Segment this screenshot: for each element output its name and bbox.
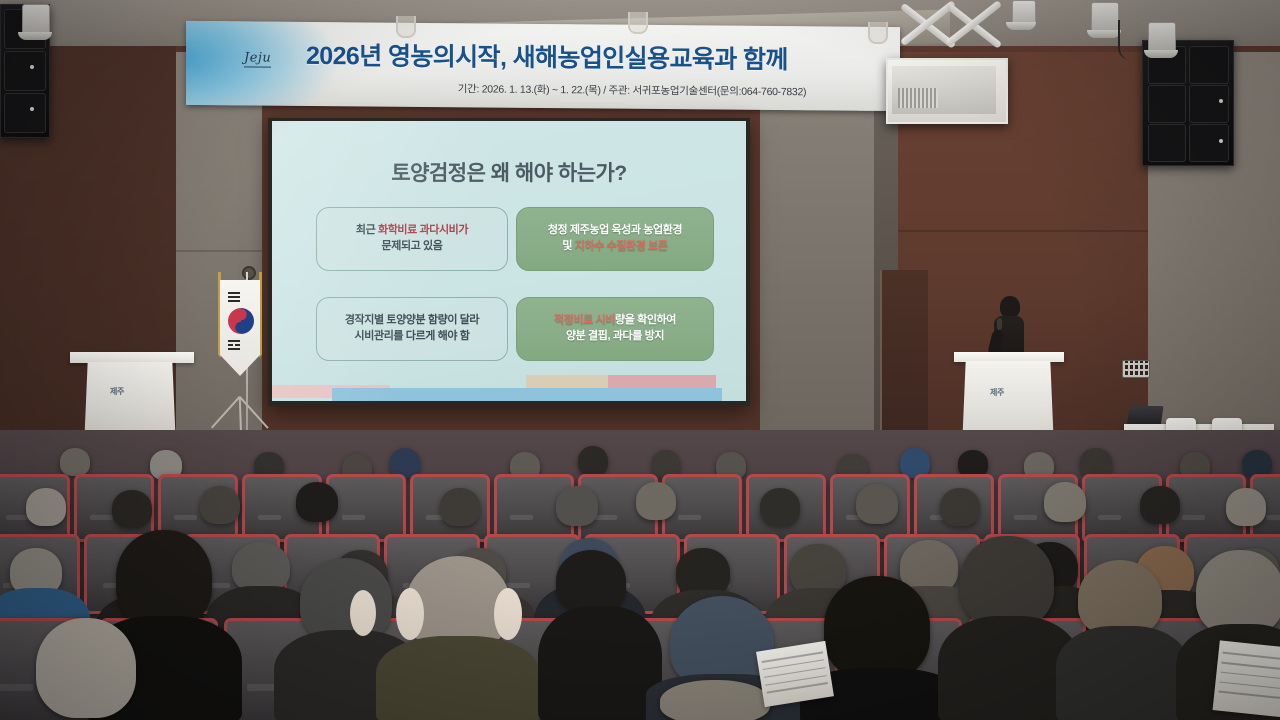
- wall-panel-grey-right: [760, 52, 878, 450]
- event-banner: Jeju 2026년 영농의시작, 새해농업인실용교육과 함께 기간: 2026…: [186, 21, 900, 111]
- speaker-cell: [1148, 124, 1186, 162]
- audience-shoulders: [1056, 626, 1190, 720]
- audience-head: [112, 490, 152, 528]
- banner-hook: [396, 16, 416, 38]
- scissor-arms: [900, 0, 1012, 64]
- audience-head-front: [36, 618, 136, 718]
- audience-head: [556, 486, 598, 526]
- speaker-cell: [1189, 85, 1229, 123]
- speaker-stack-right: [1142, 40, 1234, 166]
- speaker-led: [30, 107, 34, 111]
- audience-head: [1226, 488, 1266, 526]
- speaker-cell: [1189, 46, 1229, 84]
- banner-hook: [868, 22, 888, 44]
- seat: [326, 474, 406, 542]
- footer-segment: [608, 375, 716, 388]
- banner-subtitle: 기간: 2026. 1. 13.(화) ~ 1. 22.(목) / 주관: 서귀…: [382, 81, 882, 100]
- taeguk-symbol: [228, 308, 254, 334]
- cause-1-line1-highlight: 화학비료 과다시비가: [378, 224, 468, 236]
- projected-slide: 토양검정은 왜 해야 하는가? 최근 화학비료 과다시비가 문제되고 있음 청정…: [272, 121, 746, 401]
- banner-title: 2026년 영농의시작, 새해농업인실용교육과 함께: [306, 36, 900, 77]
- audience-head: [1044, 482, 1086, 522]
- knit-hat: [232, 542, 290, 592]
- auditorium-scene: Jeju 2026년 영농의시작, 새해농업인실용교육과 함께 기간: 2026…: [0, 0, 1280, 720]
- audience-head: [636, 482, 676, 520]
- slide-box-cause-1: 최근 화학비료 과다시비가 문제되고 있음: [316, 207, 508, 271]
- speaker-cell: [1148, 85, 1186, 123]
- audience-head-front: [824, 576, 930, 680]
- audience-head-front: [660, 680, 770, 720]
- footer-segment: [332, 388, 722, 401]
- slide-box-cause-2: 경작지별 토양양분 함량이 달라 시비관리를 다르게 해야 함: [316, 297, 508, 361]
- cause-1-line2: 문제되고 있음: [382, 240, 443, 252]
- projector-vent: [898, 88, 938, 108]
- spotlight-mount: [18, 32, 52, 40]
- audience-head: [1140, 486, 1180, 524]
- slide-box-effect-1: 청정 제주농업 육성과 농업환경 및 지하수 수질환경 보존: [516, 207, 714, 271]
- effect-1-line1: 청정 제주농업 육성과 농업환경: [548, 224, 682, 236]
- right-podium-top: [954, 352, 1064, 362]
- audience-head: [60, 448, 90, 476]
- banner-hook: [628, 12, 648, 34]
- speaker-cell: [4, 51, 46, 91]
- handout-document[interactable]: [1213, 640, 1280, 717]
- audience-head: [26, 488, 66, 526]
- cause-2-line2: 시비관리를 다르게 해야 함: [355, 330, 470, 342]
- speaker-led: [30, 65, 34, 69]
- audience-head: [296, 482, 338, 522]
- jeju-logo: Jeju: [244, 50, 271, 67]
- wall-keypad[interactable]: [1122, 360, 1150, 378]
- audience-head: [940, 488, 980, 526]
- wall-panel-grey-left: [176, 52, 262, 452]
- wall-seam: [176, 250, 262, 252]
- audience-head: [760, 488, 800, 526]
- slide-footer-decoration: [272, 375, 746, 401]
- cause-1-line1-prefix: 최근: [356, 224, 378, 236]
- hat-earflap: [350, 590, 376, 636]
- spotlight-mount: [1144, 50, 1178, 58]
- cable: [1118, 20, 1140, 60]
- spotlight-mount: [1087, 30, 1121, 38]
- right-podium-logo: 제주: [990, 387, 1004, 398]
- speaker-cell: [1189, 124, 1229, 162]
- audience-head: [200, 486, 240, 524]
- effect-1-line2-prefix: 및: [562, 240, 574, 252]
- wall-seam: [898, 230, 1148, 232]
- cause-2-line1: 경작지별 토양양분 함량이 달라: [345, 314, 479, 326]
- projector-scissor-lift: [900, 0, 1012, 64]
- audience-head: [578, 446, 608, 476]
- speaker-led: [1219, 139, 1223, 143]
- hat-earflap: [396, 588, 424, 640]
- side-door[interactable]: [880, 270, 928, 452]
- cap: [556, 550, 626, 612]
- speaker-cell: [4, 93, 46, 133]
- handout-document[interactable]: [756, 641, 834, 707]
- audience-head: [440, 488, 480, 526]
- audience-shoulders: [538, 606, 662, 720]
- audience-shoulders: [376, 636, 540, 720]
- hat-earflap: [494, 588, 522, 640]
- speaker-led: [1219, 99, 1223, 103]
- slide-box-effect-2: 적정비료 시비량을 확인하여 양분 결핍, 과다를 방지: [516, 297, 714, 361]
- left-podium-logo: 제주: [110, 386, 124, 397]
- effect-2-line2: 양분 결핍, 과다를 방지: [566, 330, 664, 342]
- audience-head: [856, 484, 898, 524]
- presenter-head: [1000, 296, 1020, 318]
- knit-hat: [1078, 560, 1162, 636]
- effect-2-line1-highlight: 적정비료 시비: [554, 314, 615, 326]
- audience-area: [0, 430, 1280, 720]
- footer-segment: [526, 375, 608, 388]
- slide-title: 토양검정은 왜 해야 하는가?: [272, 157, 746, 187]
- left-podium-top: [70, 352, 194, 363]
- effect-2-line1-suffix: 량을 확인하여: [615, 314, 676, 326]
- audience-head: [960, 536, 1054, 628]
- audience-head-front: [116, 530, 212, 628]
- effect-1-line2-highlight: 지하수 수질환경 보존: [575, 240, 668, 252]
- microphone: [997, 318, 1002, 330]
